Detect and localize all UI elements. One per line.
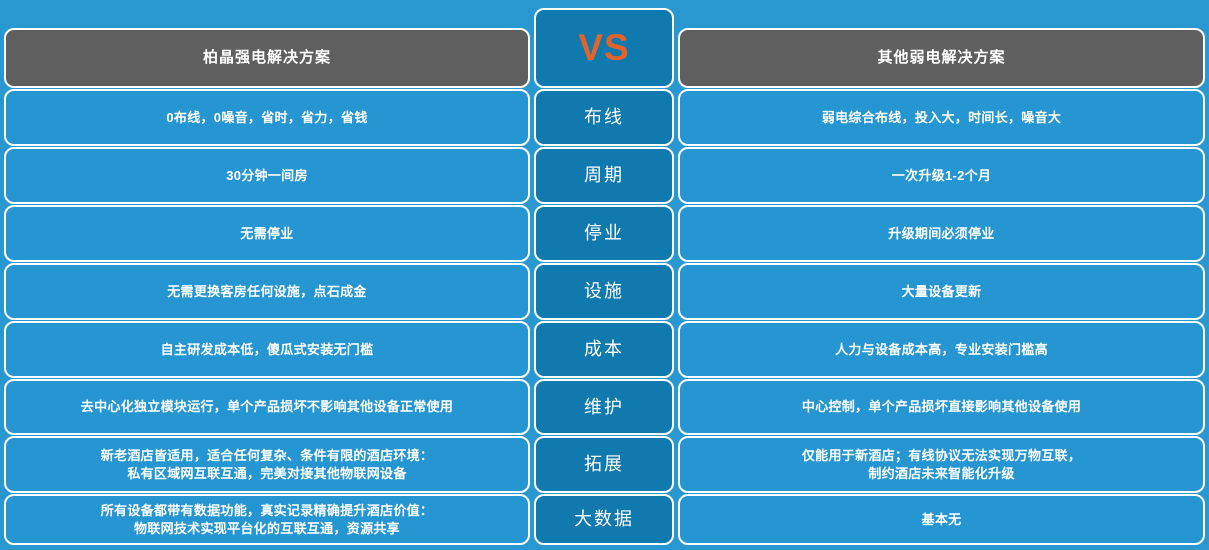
row-1-right-cell: 弱电综合布线，投入大，时间长，噪音大 xyxy=(678,89,1205,146)
row-8-category-cell-label: 大数据 xyxy=(574,507,634,531)
row-5-category-cell-label: 成本 xyxy=(584,337,624,361)
row-4-left-cell: 无需更换客房任何设施，点石成金 xyxy=(4,263,530,320)
row-4-category-cell: 设施 xyxy=(534,263,674,320)
row-7-category-cell: 拓展 xyxy=(534,436,674,493)
row-1-left-cell: 0布线，0噪音，省时，省力，省钱 xyxy=(4,89,530,146)
row-3-left-cell: 无需停业 xyxy=(4,205,530,262)
row-8-category-cell: 大数据 xyxy=(534,494,674,545)
row-8-left-cell-label: 所有设备都带有数据功能，真实记录精确提升酒店价值： 物联网技术实现平台化的互联互… xyxy=(101,502,434,537)
row-7-category-cell-label: 拓展 xyxy=(584,452,624,476)
row-2-left-cell-label: 30分钟一间房 xyxy=(226,167,308,185)
row-3-category-cell: 停业 xyxy=(534,205,674,262)
row-1-category-cell-label: 布线 xyxy=(584,105,624,129)
row-7-right-cell: 仅能用于新酒店；有线协议无法实现万物互联， 制约酒店未来智能化升级 xyxy=(678,436,1205,493)
row-6-category-cell: 维护 xyxy=(534,379,674,435)
row-3-left-cell-label: 无需停业 xyxy=(240,225,293,243)
row-6-right-cell-label: 中心控制，单个产品损坏直接影响其他设备使用 xyxy=(802,398,1081,416)
header-right-title-label: 其他弱电解决方案 xyxy=(877,48,1005,68)
row-5-right-cell: 人力与设备成本高，专业安装门槛高 xyxy=(678,321,1205,378)
row-5-left-cell: 自主研发成本低，傻瓜式安装无门槛 xyxy=(4,321,530,378)
row-6-left-cell: 去中心化独立模块运行，单个产品损坏不影响其他设备正常使用 xyxy=(4,379,530,435)
row-1-right-cell-label: 弱电综合布线，投入大，时间长，噪音大 xyxy=(822,109,1061,127)
row-3-category-cell-label: 停业 xyxy=(584,221,624,245)
row-4-left-cell-label: 无需更换客房任何设施，点石成金 xyxy=(167,283,367,301)
row-2-category-cell-label: 周期 xyxy=(584,163,624,187)
row-2-category-cell: 周期 xyxy=(534,147,674,204)
row-4-right-cell: 大量设备更新 xyxy=(678,263,1205,320)
comparison-table: 柏晶强电解决方案VS其他弱电解决方案0布线，0噪音，省时，省力，省钱布线弱电综合… xyxy=(0,0,1209,550)
row-5-right-cell-label: 人力与设备成本高，专业安装门槛高 xyxy=(835,341,1048,359)
row-3-right-cell-label: 升级期间必须停业 xyxy=(888,225,994,243)
row-6-right-cell: 中心控制，单个产品损坏直接影响其他设备使用 xyxy=(678,379,1205,435)
row-8-left-cell: 所有设备都带有数据功能，真实记录精确提升酒店价值： 物联网技术实现平台化的互联互… xyxy=(4,494,530,545)
header-vs-badge-label: VS xyxy=(578,23,629,73)
row-2-left-cell: 30分钟一间房 xyxy=(4,147,530,204)
header-vs-badge: VS xyxy=(534,8,674,88)
row-7-right-cell-label: 仅能用于新酒店；有线协议无法实现万物互联， 制约酒店未来智能化升级 xyxy=(802,447,1081,482)
row-5-category-cell: 成本 xyxy=(534,321,674,378)
header-left-title: 柏晶强电解决方案 xyxy=(4,28,530,88)
row-8-right-cell: 基本无 xyxy=(678,494,1205,545)
header-right-title: 其他弱电解决方案 xyxy=(678,28,1205,88)
row-6-category-cell-label: 维护 xyxy=(584,395,624,419)
row-7-left-cell-label: 新老酒店皆适用，适合任何复杂、条件有限的酒店环境： 私有区域网互联互通，完美对接… xyxy=(101,447,434,482)
row-5-left-cell-label: 自主研发成本低，傻瓜式安装无门槛 xyxy=(161,341,374,359)
row-3-right-cell: 升级期间必须停业 xyxy=(678,205,1205,262)
header-left-title-label: 柏晶强电解决方案 xyxy=(203,48,331,68)
row-8-right-cell-label: 基本无 xyxy=(922,511,962,529)
row-6-left-cell-label: 去中心化独立模块运行，单个产品损坏不影响其他设备正常使用 xyxy=(81,398,453,416)
row-1-category-cell: 布线 xyxy=(534,89,674,146)
row-4-category-cell-label: 设施 xyxy=(584,279,624,303)
row-1-left-cell-label: 0布线，0噪音，省时，省力，省钱 xyxy=(166,109,367,127)
row-2-right-cell: 一次升级1-2个月 xyxy=(678,147,1205,204)
row-7-left-cell: 新老酒店皆适用，适合任何复杂、条件有限的酒店环境： 私有区域网互联互通，完美对接… xyxy=(4,436,530,493)
row-2-right-cell-label: 一次升级1-2个月 xyxy=(892,167,992,185)
row-4-right-cell-label: 大量设备更新 xyxy=(902,283,982,301)
